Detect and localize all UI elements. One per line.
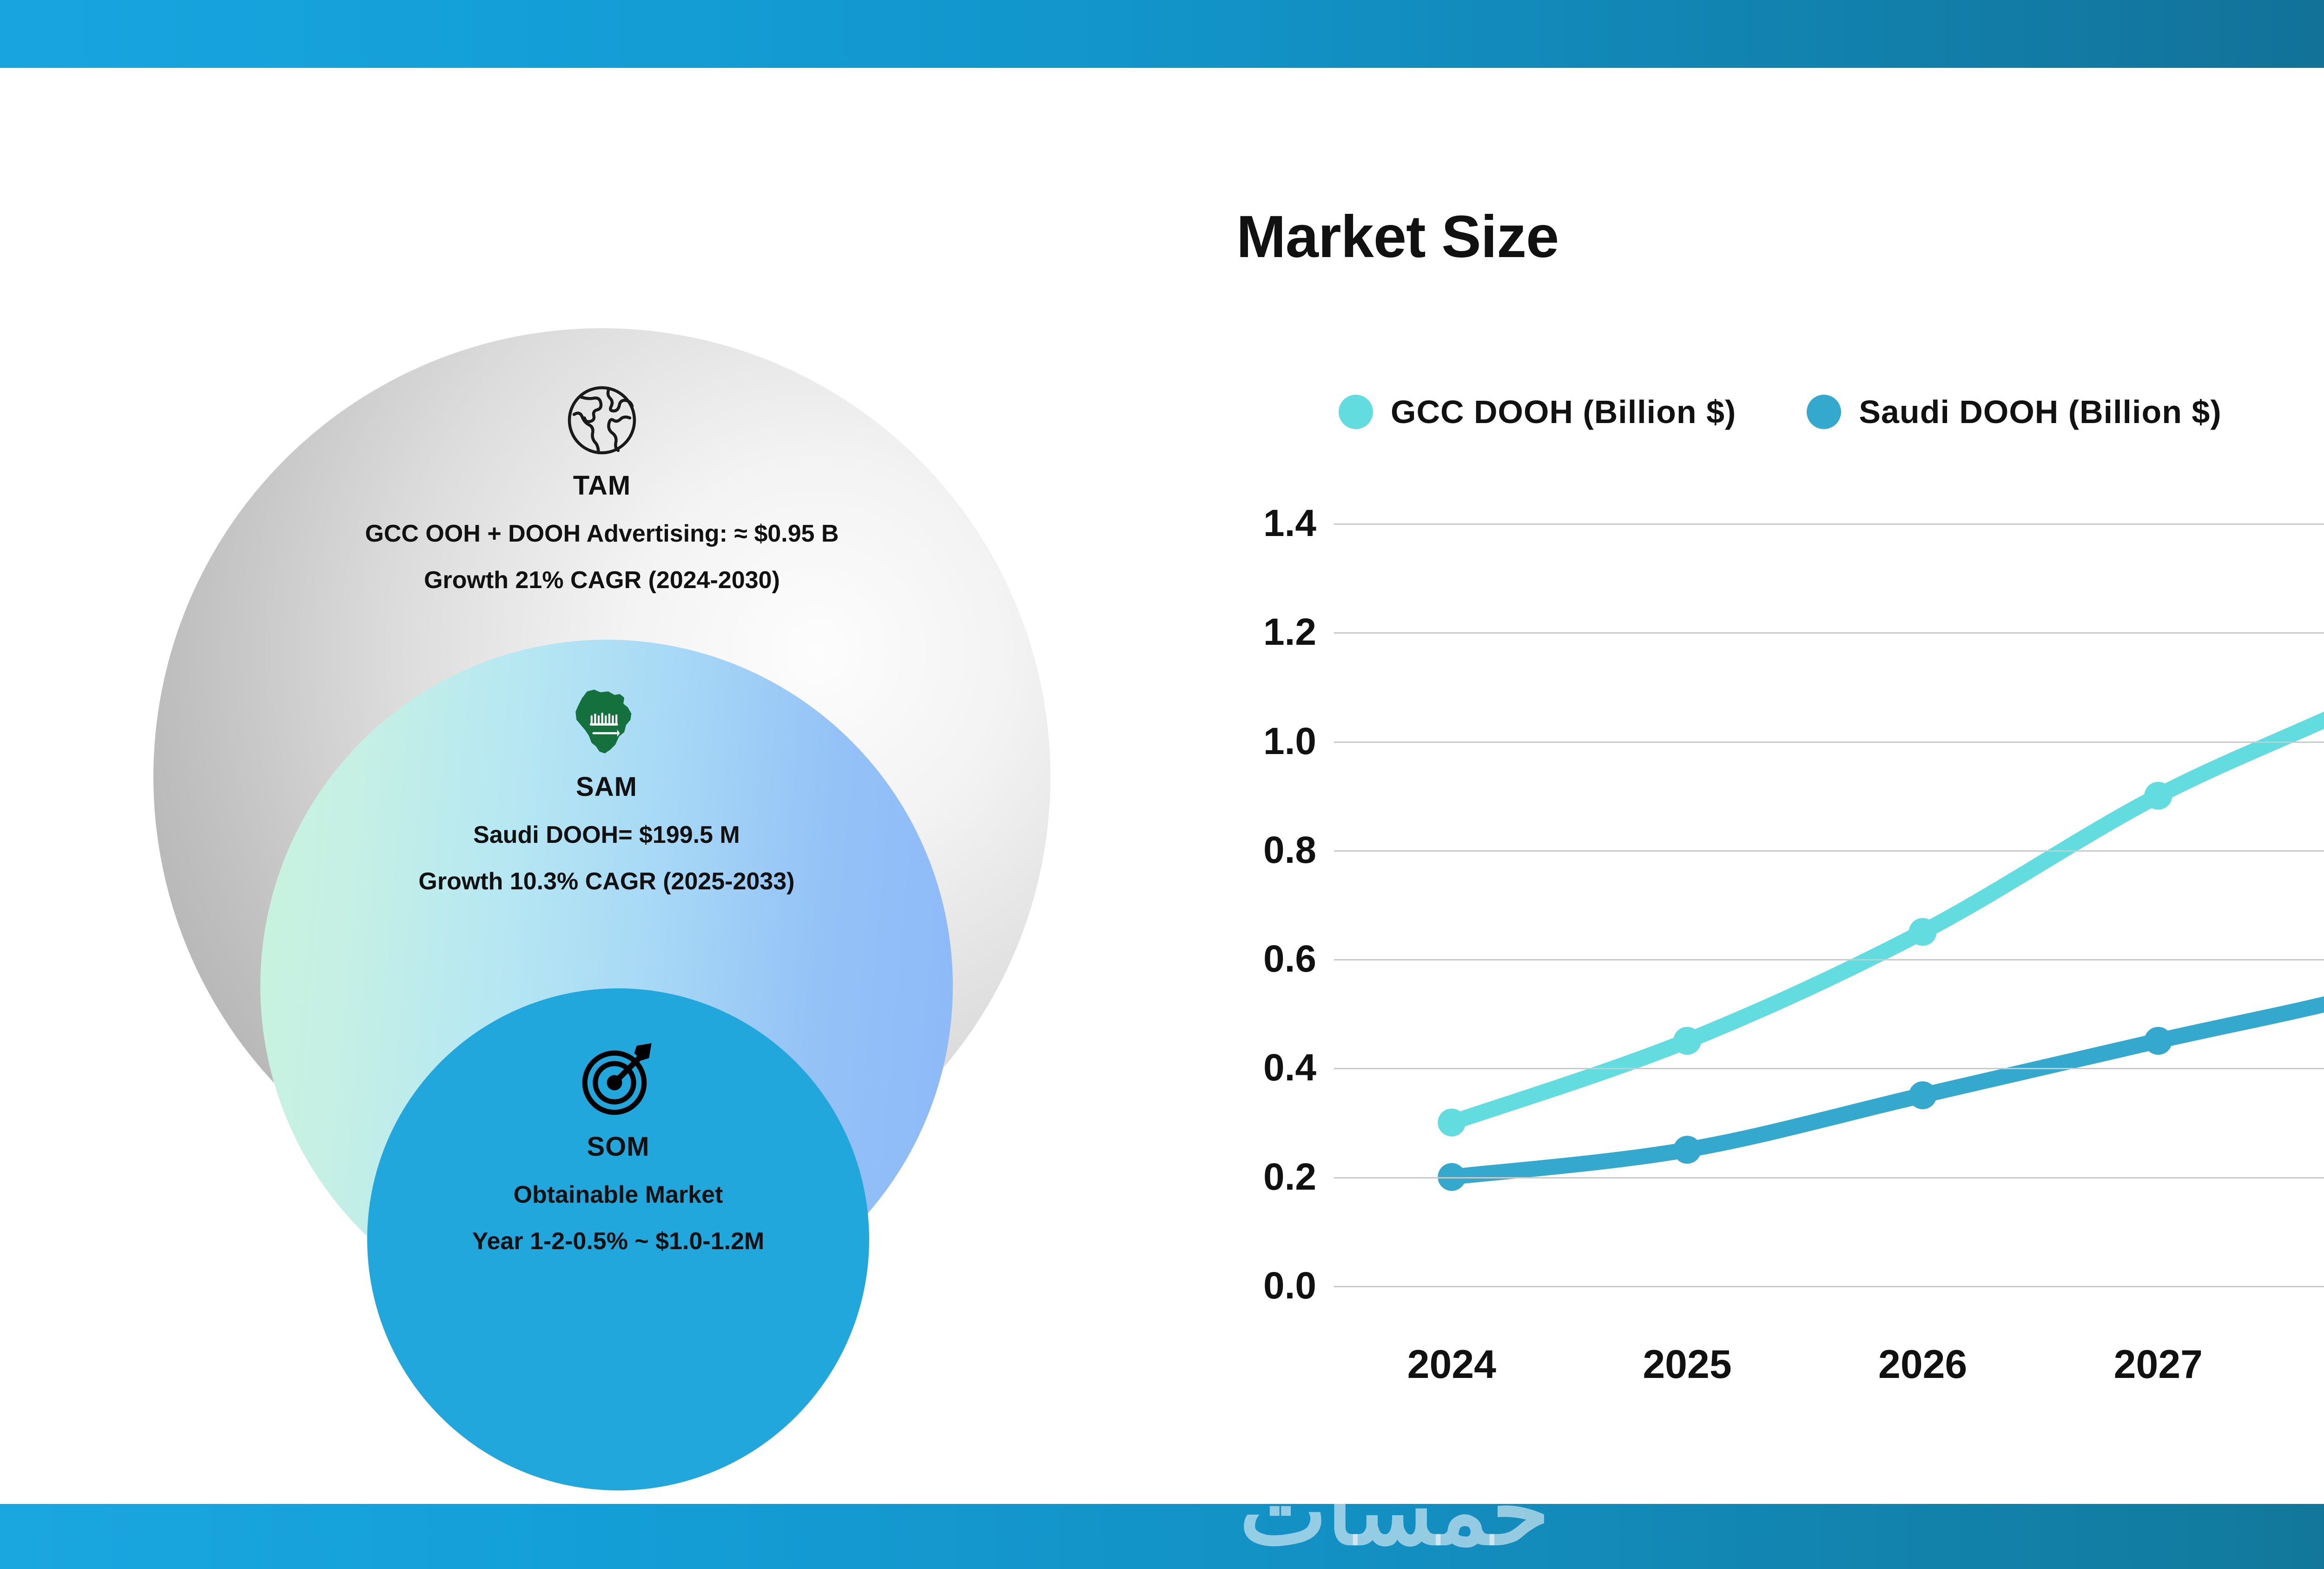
data-point-marker[interactable] — [1438, 1109, 1466, 1137]
x-axis-tick-label: 2026 — [1878, 1342, 1967, 1388]
legend-marker-icon — [1339, 395, 1373, 429]
sam-line2: Growth 10.3% CAGR (2025-2033) — [260, 867, 953, 895]
som-circle: SOM Obtainable Market Year 1-2-0.5% ~ $1… — [367, 988, 869, 1490]
som-line1: Obtainable Market — [367, 1181, 869, 1209]
data-point-marker[interactable] — [2144, 1027, 2172, 1055]
gridline — [1334, 523, 2324, 525]
gridline — [1334, 1177, 2324, 1178]
bottom-accent-bar — [0, 1504, 2324, 1569]
y-axis-tick-label: 0.4 — [1263, 1046, 1316, 1090]
globe-icon — [153, 383, 1050, 460]
y-axis-tick-label: 0.2 — [1263, 1155, 1316, 1199]
gridline — [1334, 1068, 2324, 1069]
market-size-diagram: TAM GCC OOH + DOOH Advertising: ≈ $0.95 … — [0, 68, 1162, 1504]
plot-area — [1334, 523, 2324, 1286]
x-axis-tick-label: 2025 — [1643, 1342, 1731, 1388]
x-axis-tick-label: 2027 — [2114, 1342, 2203, 1388]
chart-plot-wrapper: 0.00.20.40.60.81.01.21.4 202420252026202… — [1195, 523, 2324, 1407]
sam-title: SAM — [260, 771, 953, 802]
sam-content: SAM Saudi DOOH= $199.5 M Growth 10.3% CA… — [260, 684, 953, 895]
tam-line1: GCC OOH + DOOH Advertising: ≈ $0.95 B — [153, 520, 1050, 548]
x-axis: 202420252026202720282030 — [1334, 1342, 2324, 1397]
y-axis-tick-label: 1.2 — [1263, 610, 1316, 654]
som-content: SOM Obtainable Market Year 1-2-0.5% ~ $1… — [367, 1039, 869, 1255]
chart-title: Market Size — [1236, 203, 1558, 271]
tam-content: TAM GCC OOH + DOOH Advertising: ≈ $0.95 … — [153, 383, 1050, 594]
legend-label: GCC DOOH (Billion $) — [1391, 393, 1736, 430]
chart-lines-svg — [1334, 523, 2324, 1286]
data-point-marker[interactable] — [1909, 918, 1937, 946]
legend-marker-icon — [1807, 395, 1841, 429]
gridline — [1334, 850, 2324, 852]
target-icon — [367, 1039, 869, 1121]
saudi-arabia-map-icon — [260, 684, 953, 761]
data-point-marker[interactable] — [1673, 1027, 1701, 1055]
tam-line2: Growth 21% CAGR (2024-2030) — [153, 566, 1050, 594]
y-axis-tick-label: 1.0 — [1263, 720, 1316, 763]
y-axis-tick-label: 1.4 — [1263, 502, 1316, 545]
data-point-marker[interactable] — [2144, 782, 2172, 810]
gridline — [1334, 741, 2324, 743]
gridline — [1334, 1286, 2324, 1287]
som-line2: Year 1-2-0.5% ~ $1.0-1.2M — [367, 1227, 869, 1255]
sam-line1: Saudi DOOH= $199.5 M — [260, 821, 953, 849]
y-axis: 0.00.20.40.60.81.01.21.4 — [1195, 523, 1329, 1286]
tam-title: TAM — [153, 470, 1050, 501]
market-size-chart-panel: Market Size GCC DOOH (Billion $)Saudi DO… — [1139, 68, 2324, 1504]
data-point-marker[interactable] — [1673, 1136, 1701, 1164]
chart-legend: GCC DOOH (Billion $)Saudi DOOH (Billion … — [1339, 393, 2222, 430]
legend-item-saudi[interactable]: Saudi DOOH (Billion $) — [1807, 393, 2221, 430]
som-title: SOM — [367, 1131, 869, 1162]
y-axis-tick-label: 0.8 — [1263, 828, 1316, 872]
y-axis-tick-label: 0.0 — [1263, 1264, 1316, 1308]
gridline — [1334, 959, 2324, 960]
gridline — [1334, 632, 2324, 634]
x-axis-tick-label: 2024 — [1407, 1342, 1496, 1388]
top-accent-bar — [0, 0, 2324, 68]
legend-label: Saudi DOOH (Billion $) — [1859, 393, 2221, 430]
y-axis-tick-label: 0.6 — [1263, 937, 1316, 981]
legend-item-gcc[interactable]: GCC DOOH (Billion $) — [1339, 393, 1736, 430]
data-point-marker[interactable] — [1909, 1081, 1937, 1109]
